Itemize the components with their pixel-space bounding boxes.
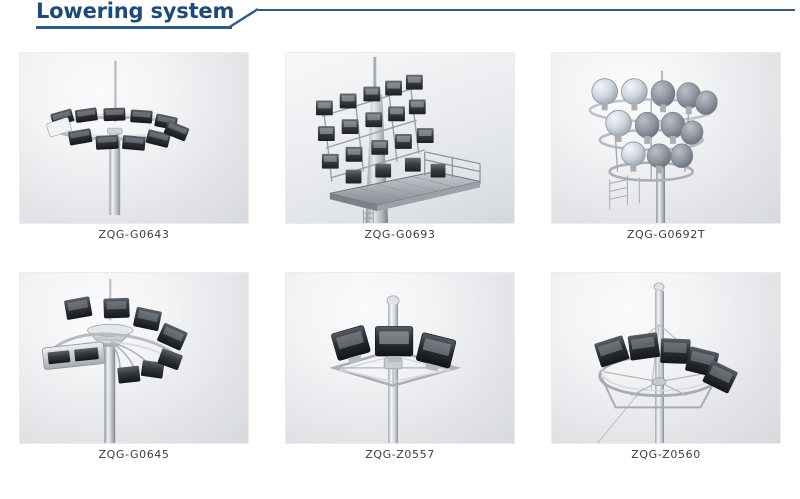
product-card[interactable]: ZQG-G0645 xyxy=(1,260,267,480)
product-card[interactable]: ZQG-Z0557 xyxy=(267,260,533,480)
three-lamp-diamond-frame-icon xyxy=(285,272,515,444)
product-card[interactable]: ZQG-Z0560 xyxy=(533,260,799,480)
stadium-mast-platform-icon xyxy=(285,52,515,224)
product-code-label: ZQG-Z0560 xyxy=(533,448,799,461)
product-code-label: ZQG-G0693 xyxy=(267,228,533,241)
header-horizontal-rule xyxy=(258,9,795,11)
product-card[interactable]: ZQG-G0692T xyxy=(533,40,799,260)
page-title: Lowering system xyxy=(36,0,234,23)
product-code-label: ZQG-G0645 xyxy=(1,448,267,461)
product-card[interactable]: ZQG-G0643 xyxy=(1,40,267,260)
product-card[interactable]: ZQG-G0693 xyxy=(267,40,533,260)
title-underline xyxy=(36,26,232,29)
high-mast-ring-floodlight-icon xyxy=(19,52,249,224)
crown-curved-arm-icon xyxy=(19,272,249,444)
five-lamp-ring-frame-icon xyxy=(551,272,781,444)
page-header: Lowering system xyxy=(0,0,800,40)
header-diagonal-connector xyxy=(228,8,260,29)
tiered-round-reflector-icon xyxy=(551,52,781,224)
product-code-label: ZQG-G0692T xyxy=(533,228,799,241)
product-code-label: ZQG-G0643 xyxy=(1,228,267,241)
product-grid: ZQG-G0643 xyxy=(0,40,800,480)
product-code-label: ZQG-Z0557 xyxy=(267,448,533,461)
